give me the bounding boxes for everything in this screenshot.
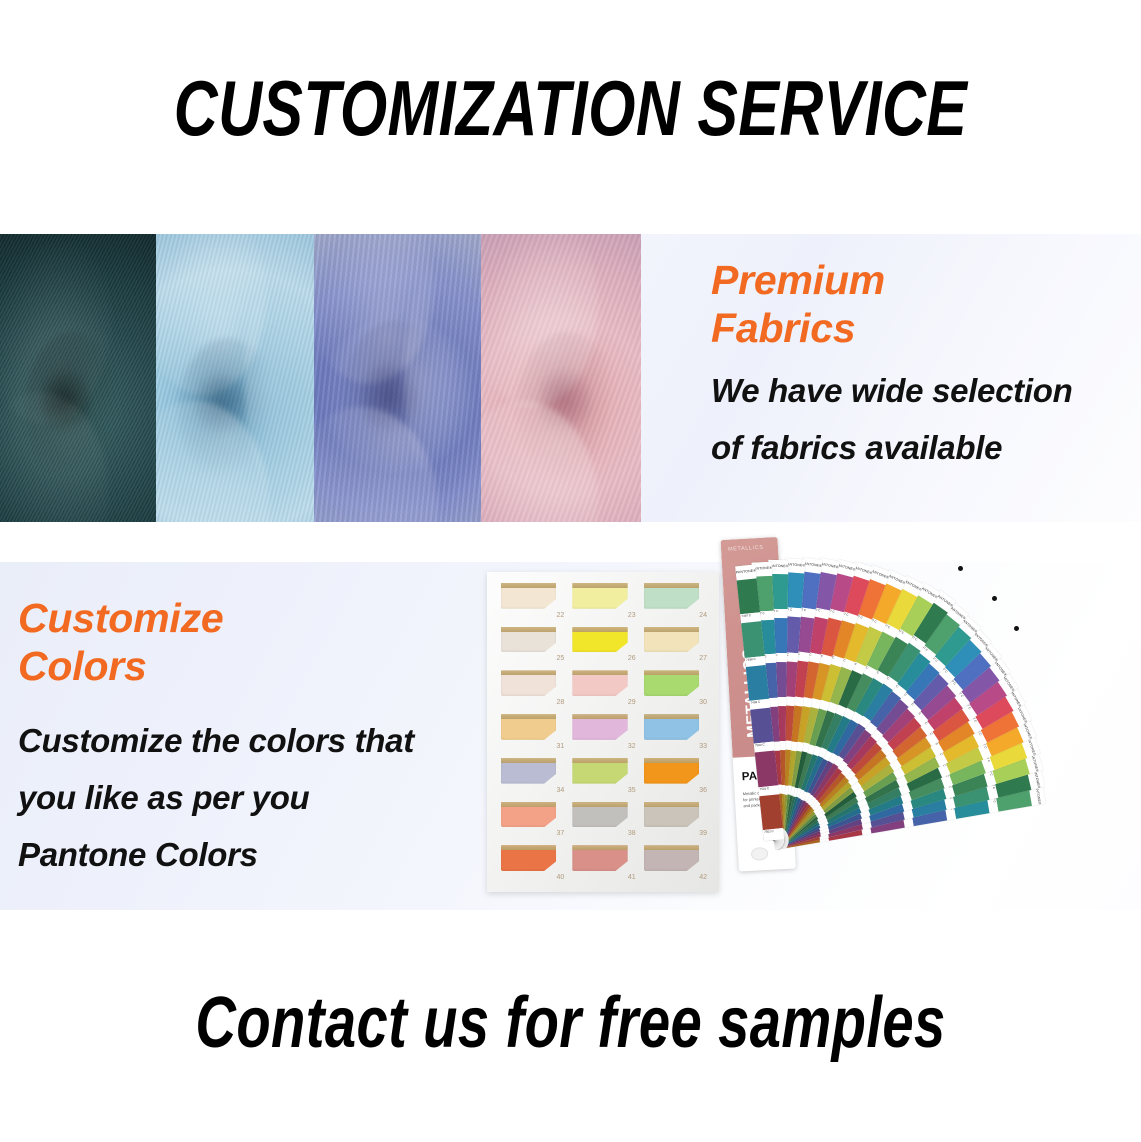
kicker-line-2: Fabrics <box>711 304 885 352</box>
chip-number: 29 <box>628 699 636 707</box>
customize-colors-body: Customize the colors that you like as pe… <box>18 712 414 883</box>
chip-top-strip <box>572 802 627 807</box>
kicker-line-2: Colors <box>18 642 224 690</box>
color-chip <box>501 758 556 784</box>
premium-fabrics-copy-panel: Premium Fabrics We have wide selection o… <box>641 234 1141 522</box>
body-line-2: of fabrics available <box>711 419 1072 476</box>
fabric-swatch-light-blue <box>156 234 314 522</box>
chip-top-strip <box>644 802 699 807</box>
chip-number: 41 <box>628 874 636 882</box>
color-chip <box>501 627 556 653</box>
color-chip <box>644 583 699 609</box>
swatch-cell: 39 <box>641 800 708 839</box>
chip-top-strip <box>572 714 627 719</box>
color-chip <box>644 627 699 653</box>
color-chip <box>501 714 556 740</box>
color-chip <box>572 802 627 828</box>
swatch-cell: 24 <box>641 581 708 620</box>
swatch-cell: 36 <box>641 756 708 795</box>
chip-number: 26 <box>628 655 636 663</box>
fan-marker-dot <box>992 596 997 601</box>
body-line-2: you like as per you <box>18 769 414 826</box>
chip-top-strip <box>572 670 627 675</box>
swatch-cell: 37 <box>498 800 565 839</box>
chip-number: 27 <box>699 655 707 663</box>
chip-top-strip <box>501 802 556 807</box>
chip-number: 25 <box>557 655 565 663</box>
chip-number: 35 <box>628 787 636 795</box>
footer-cta: Contact us for free samples <box>126 985 1016 1061</box>
swatch-cell: 35 <box>569 756 636 795</box>
color-chip <box>644 802 699 828</box>
color-chip <box>644 670 699 696</box>
chip-number: 42 <box>699 874 707 882</box>
body-line-1: Customize the colors that <box>18 712 414 769</box>
body-line-1: We have wide selection <box>711 362 1072 419</box>
chip-number: 24 <box>699 612 707 620</box>
chip-number: 33 <box>699 743 707 751</box>
fabric-swatch-pink <box>481 234 641 522</box>
chip-top-strip <box>501 758 556 763</box>
chip-number: 23 <box>628 612 636 620</box>
pantone-code-label: 7502 C <box>763 828 784 841</box>
pantone-color-strip <box>737 578 760 614</box>
swatch-cell: 32 <box>569 712 636 751</box>
color-chip <box>572 670 627 696</box>
color-chip <box>572 758 627 784</box>
color-chip <box>501 802 556 828</box>
color-chip <box>501 845 556 871</box>
swatch-cell: 30 <box>641 668 708 707</box>
pantone-color-strip <box>759 794 782 830</box>
chip-number: 36 <box>699 787 707 795</box>
color-chip <box>644 758 699 784</box>
swatch-cell: 22 <box>498 581 565 620</box>
chip-number: 40 <box>557 874 565 882</box>
chip-top-strip <box>644 758 699 763</box>
swatch-cell: 26 <box>569 625 636 664</box>
fan-marker-dot <box>1014 626 1019 631</box>
color-chip <box>644 845 699 871</box>
swatch-cell: 28 <box>498 668 565 707</box>
chip-top-strip <box>572 758 627 763</box>
pantone-color-strip <box>755 751 778 787</box>
swatch-cell: 40 <box>498 843 565 882</box>
chip-number: 37 <box>557 830 565 838</box>
chip-top-strip <box>501 845 556 850</box>
swatch-cell: 42 <box>641 843 708 882</box>
customize-colors-kicker: Customize Colors <box>18 594 224 690</box>
swatch-cell: 23 <box>569 581 636 620</box>
color-chip <box>501 670 556 696</box>
chip-top-strip <box>501 714 556 719</box>
fabric-swatch-dark-teal <box>0 234 156 522</box>
chip-top-strip <box>501 583 556 588</box>
pantone-fan-deck: PANTONE®7497 C7498 C7499 C7500 C7501 C75… <box>726 534 1141 916</box>
fan-marker-dot <box>958 566 963 571</box>
pantone-color-strip <box>750 708 773 744</box>
fabric-swatch-periwinkle <box>314 234 481 522</box>
pantone-page-header: PANTONE® <box>735 564 756 579</box>
swatch-cell: 34 <box>498 756 565 795</box>
cover-thumb-notch <box>751 847 769 861</box>
color-chip <box>501 583 556 609</box>
chip-top-strip <box>572 845 627 850</box>
chip-top-strip <box>501 670 556 675</box>
color-swatch-grid: 2223242526272829303132333435363738394041… <box>498 581 708 882</box>
chip-number: 31 <box>557 743 565 751</box>
chip-number: 38 <box>628 830 636 838</box>
chip-number: 34 <box>557 787 565 795</box>
chip-number: 32 <box>628 743 636 751</box>
kicker-line-1: Premium <box>711 256 885 304</box>
premium-fabrics-kicker: Premium Fabrics <box>711 256 885 352</box>
swatch-cell: 33 <box>641 712 708 751</box>
swatch-cell: 31 <box>498 712 565 751</box>
chip-number: 30 <box>699 699 707 707</box>
chip-top-strip <box>572 627 627 632</box>
color-chip <box>572 583 627 609</box>
page-title: CUSTOMIZATION SERVICE <box>126 68 1016 148</box>
color-chip <box>572 714 627 740</box>
color-chip <box>572 845 627 871</box>
swatch-cell: 38 <box>569 800 636 839</box>
color-chip <box>572 627 627 653</box>
swatch-cell: 27 <box>641 625 708 664</box>
kicker-line-1: Customize <box>18 594 224 642</box>
body-line-3: Pantone Colors <box>18 826 414 883</box>
chip-number: 39 <box>699 830 707 838</box>
chip-top-strip <box>644 627 699 632</box>
pantone-color-strip <box>746 665 769 701</box>
swatch-cell: 41 <box>569 843 636 882</box>
chip-top-strip <box>572 583 627 588</box>
swatch-cell: 25 <box>498 625 565 664</box>
chip-top-strip <box>501 627 556 632</box>
chip-number: 22 <box>557 612 565 620</box>
chip-top-strip <box>644 714 699 719</box>
color-chip <box>644 714 699 740</box>
premium-fabrics-body: We have wide selection of fabrics availa… <box>711 362 1072 476</box>
chip-number: 28 <box>557 699 565 707</box>
swatch-cell: 29 <box>569 668 636 707</box>
pantone-color-strip <box>741 621 764 657</box>
color-swatch-card: 2223242526272829303132333435363738394041… <box>487 572 719 892</box>
chip-top-strip <box>644 670 699 675</box>
chip-top-strip <box>644 583 699 588</box>
chip-top-strip <box>644 845 699 850</box>
